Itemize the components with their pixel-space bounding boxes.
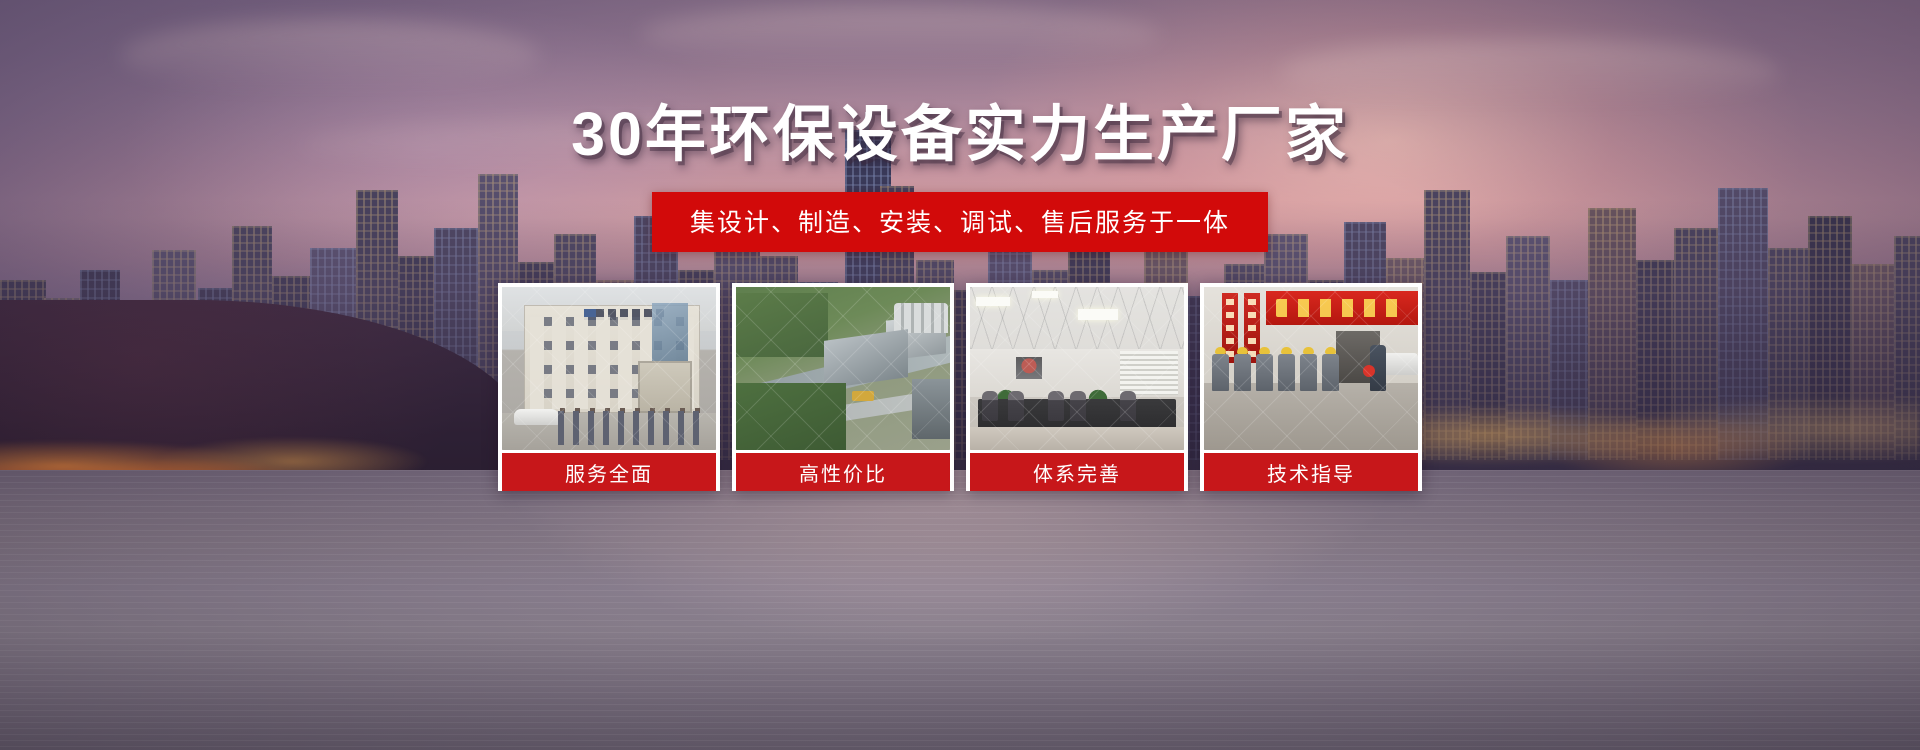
feature-card-caption: 体系完善 — [970, 450, 1184, 491]
feature-card-caption: 高性价比 — [736, 450, 950, 491]
feature-card-caption: 服务全面 — [502, 450, 716, 491]
feature-card[interactable]: 服务全面 — [498, 283, 720, 491]
feature-card-photo-office-interior — [970, 287, 1184, 450]
banner-content: 30年环保设备实力生产厂家 集设计、制造、安装、调试、售后服务于一体 — [0, 0, 1920, 750]
feature-card-photo-office-building — [502, 287, 716, 450]
feature-card-caption: 技术指导 — [1204, 450, 1418, 491]
feature-card[interactable]: 高性价比 — [732, 283, 954, 491]
banner-subtitle-bar: 集设计、制造、安装、调试、售后服务于一体 — [652, 192, 1268, 252]
feature-card-list: 服务全面 — [498, 283, 1422, 491]
feature-card[interactable]: 技术指导 — [1200, 283, 1422, 491]
feature-card-photo-workshop-workers — [1204, 287, 1418, 450]
banner-headline: 30年环保设备实力生产厂家 — [0, 104, 1920, 165]
feature-card[interactable]: 体系完善 — [966, 283, 1188, 491]
feature-card-photo-plant-aerial — [736, 287, 950, 450]
hero-banner: 30年环保设备实力生产厂家 集设计、制造、安装、调试、售后服务于一体 — [0, 0, 1920, 750]
